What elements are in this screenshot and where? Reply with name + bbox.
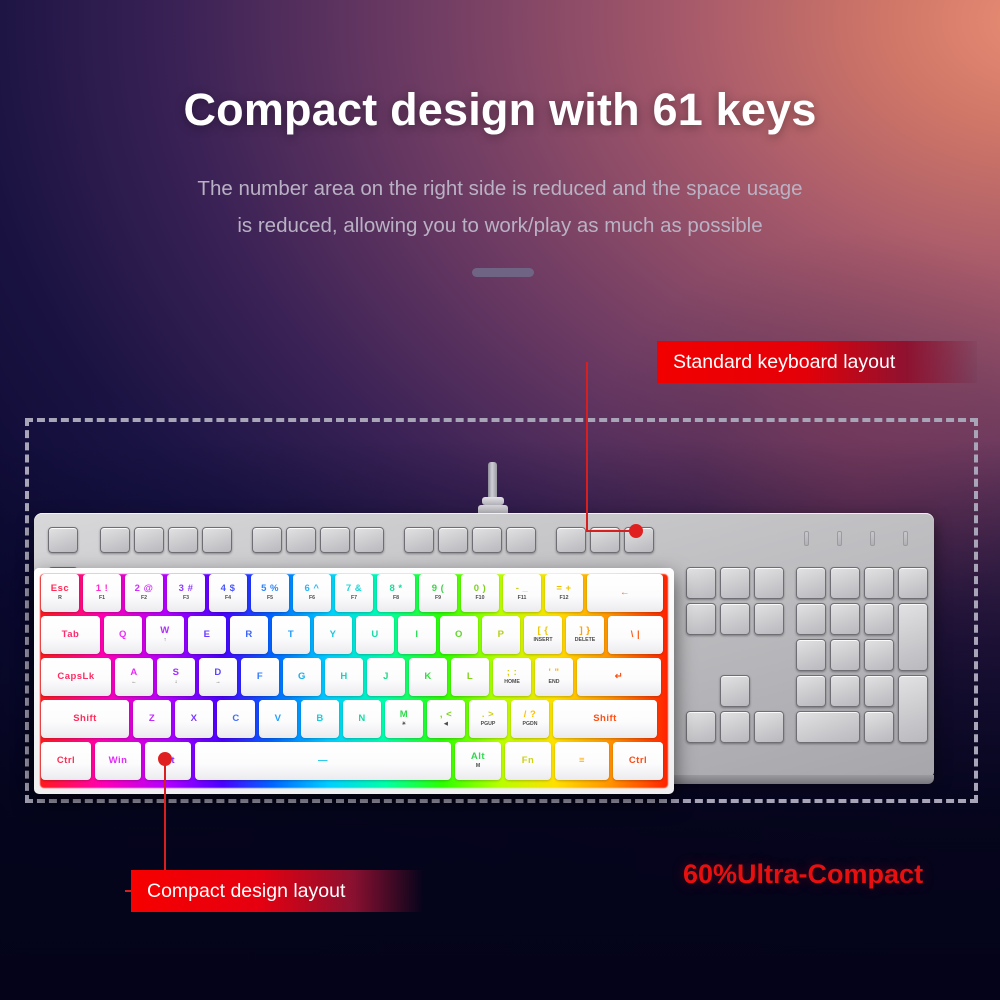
numpad-zero (796, 711, 860, 743)
full-keyboard-key (286, 527, 316, 553)
key-K-2-8[interactable]: K (409, 658, 447, 696)
key-legend: J (383, 672, 389, 682)
key--3-9[interactable]: . >PGUP (469, 700, 507, 738)
key-legend: H (340, 672, 347, 682)
key-sub-legend: M (476, 764, 480, 769)
key-legend: Alt (471, 752, 485, 762)
key-legend: 2 @ (135, 584, 154, 594)
full-keyboard-key (100, 527, 130, 553)
key-legend: E (204, 630, 211, 640)
key-legend: 0 ) (474, 584, 487, 594)
key-legend: ↵ (615, 672, 623, 682)
key-legend: 6 ^ (305, 584, 320, 594)
key-legend: D (214, 668, 221, 678)
key--1-13[interactable]: \ | (608, 616, 663, 654)
key-legend: ] } (580, 626, 591, 636)
numpad-key (796, 603, 826, 635)
key-Fn-4-5[interactable]: Fn (505, 742, 551, 780)
key-sub-legend: F3 (183, 596, 189, 601)
key-row-shift-row: ShiftZXCVBNM☀, <◀. >PGUP/ ?PGDNShift (41, 700, 657, 738)
key--3-10[interactable]: / ?PGDN (511, 700, 549, 738)
key-sub-legend: ◀ (444, 722, 448, 727)
status-led-2 (870, 531, 875, 546)
key-legend: 8 * (389, 584, 402, 594)
key-legend: Fn (522, 756, 535, 766)
numpad-key (830, 639, 860, 671)
key-legend: Win (109, 756, 128, 766)
arrow-left (686, 711, 716, 743)
key-legend: Q (119, 630, 127, 640)
key-Tab-1-0[interactable]: Tab (41, 616, 100, 654)
key-sub-legend: F12 (560, 596, 569, 601)
key-sub-legend: PGUP (481, 722, 496, 727)
key-legend: ' " (549, 668, 560, 678)
key-legend: Ctrl (57, 756, 75, 766)
full-keyboard-key (252, 527, 282, 553)
key-Win-4-1[interactable]: Win (95, 742, 141, 780)
numpad-key (864, 675, 894, 707)
numpad-key (864, 639, 894, 671)
key-legend: — (318, 756, 328, 766)
full-keyboard-key (202, 527, 232, 553)
key-legend: B (316, 714, 323, 724)
key-legend: P (498, 630, 505, 640)
key-sub-legend: INSERT (533, 638, 552, 643)
key-legend: 1 ! (96, 584, 109, 594)
numpad-key (864, 603, 894, 635)
key-legend: R (245, 630, 252, 640)
key-row-bottom-row: CtrlWinAlt—AltMFn≡Ctrl (41, 742, 663, 780)
key-legend: F (257, 672, 263, 682)
key-sub-legend: → (215, 680, 220, 685)
key-legend: 9 ( (432, 584, 445, 594)
key-legend: L (467, 672, 473, 682)
key-3-0-3[interactable]: 3 #F3 (167, 574, 205, 612)
key-sub-legend: ↓ (175, 680, 178, 685)
key-V-3-4[interactable]: V (259, 700, 297, 738)
status-led-3 (903, 531, 908, 546)
key-P-1-10[interactable]: P (482, 616, 520, 654)
key-legend: / ? (524, 710, 537, 720)
key-legend: = + (556, 584, 571, 594)
key-legend: - _ (516, 584, 529, 594)
nav-key (720, 603, 750, 635)
numpad-key (830, 603, 860, 635)
key-legend: A (130, 668, 137, 678)
product-banner: Compact design with 61 keys The number a… (0, 0, 1000, 1000)
key-A-2-1[interactable]: A← (115, 658, 153, 696)
full-keyboard-key (404, 527, 434, 553)
full-key-esc (48, 527, 78, 553)
key-Esc-0-0[interactable]: EscR (41, 574, 79, 612)
key-Ctrl-4-0[interactable]: Ctrl (41, 742, 91, 780)
key-legend: Z (149, 714, 155, 724)
page-title: Compact design with 61 keys (0, 84, 1000, 136)
key--4-3[interactable]: — (195, 742, 451, 780)
key-C-3-3[interactable]: C (217, 700, 255, 738)
key-I-1-8[interactable]: I (398, 616, 436, 654)
section-divider (472, 268, 534, 277)
numpad-key (796, 567, 826, 599)
key--1-11[interactable]: [ {INSERT (524, 616, 562, 654)
key-Q-1-1[interactable]: Q (104, 616, 142, 654)
nav-key (686, 567, 716, 599)
callout-compact-layout-label: Compact design layout (147, 880, 345, 903)
key-legend: ← (620, 588, 630, 598)
key-L-2-9[interactable]: L (451, 658, 489, 696)
key-U-1-7[interactable]: U (356, 616, 394, 654)
nav-key (754, 603, 784, 635)
full-keyboard-key (506, 527, 536, 553)
key-sub-legend: END (549, 680, 560, 685)
compact-keyboard[interactable]: EscR1 !F12 @F23 #F34 $F45 %F56 ^F67 &F78… (34, 568, 674, 794)
numpad-key (830, 567, 860, 599)
key-legend: U (371, 630, 378, 640)
key-E-1-3[interactable]: E (188, 616, 226, 654)
status-led-0 (804, 531, 809, 546)
key--2-11[interactable]: ' "END (535, 658, 573, 696)
key-Ctrl-4-7[interactable]: Ctrl (613, 742, 663, 780)
key-legend: Shift (593, 714, 617, 724)
key-Y-1-6[interactable]: Y (314, 616, 352, 654)
key-legend: T (288, 630, 294, 640)
callout-standard-layout-label: Standard keyboard layout (673, 351, 895, 374)
key-9-0-9[interactable]: 9 (F9 (419, 574, 457, 612)
key-legend: Esc (51, 584, 69, 594)
ultra-compact-tagline: 60%Ultra-Compact (683, 859, 983, 890)
key--2-12[interactable]: ↵ (577, 658, 661, 696)
key-F-2-4[interactable]: F (241, 658, 279, 696)
key-5-0-5[interactable]: 5 %F5 (251, 574, 289, 612)
key-legend: K (424, 672, 431, 682)
key--0-11[interactable]: - _F11 (503, 574, 541, 612)
key--0-13[interactable]: ← (587, 574, 663, 612)
key-legend: M (400, 710, 408, 720)
callout-dot-bottom (158, 752, 172, 766)
numpad-key (830, 675, 860, 707)
key-legend: S (173, 668, 180, 678)
key-sub-legend: DELETE (575, 638, 595, 643)
subtitle-line-1: The number area on the right side is red… (0, 170, 1000, 207)
key-6-0-6[interactable]: 6 ^F6 (293, 574, 331, 612)
leader-line-top-vertical (586, 362, 588, 530)
key-W-1-2[interactable]: W↑ (146, 616, 184, 654)
key-sub-legend: F5 (267, 596, 273, 601)
key-Z-3-1[interactable]: Z (133, 700, 171, 738)
key-legend: Shift (73, 714, 97, 724)
key-legend: Y (330, 630, 337, 640)
key-R-1-4[interactable]: R (230, 616, 268, 654)
key-D-2-3[interactable]: D→ (199, 658, 237, 696)
numpad-key (864, 567, 894, 599)
key-legend: ≡ (579, 756, 585, 766)
arrow-down (720, 711, 750, 743)
key--1-12[interactable]: ] }DELETE (566, 616, 604, 654)
status-led-1 (837, 531, 842, 546)
key-M-3-7[interactable]: M☀ (385, 700, 423, 738)
key-G-2-5[interactable]: G (283, 658, 321, 696)
full-keyboard-key (168, 527, 198, 553)
cable-collar (482, 497, 504, 505)
callout-dot-top (629, 524, 643, 538)
numpad-key (796, 639, 826, 671)
full-keyboard-key (472, 527, 502, 553)
key-H-2-6[interactable]: H (325, 658, 363, 696)
key-sub-legend: ☀ (402, 722, 407, 727)
numpad-dot (864, 711, 894, 743)
key--3-8[interactable]: , <◀ (427, 700, 465, 738)
key-legend: I (415, 630, 418, 640)
key-legend: 5 % (261, 584, 279, 594)
key-legend: 7 & (346, 584, 362, 594)
key-sub-legend: F6 (309, 596, 315, 601)
key-row-qwerty-row: TabQW↑ERTYUIOP[ {INSERT] }DELETE\ | (41, 616, 663, 654)
numpad-plus (898, 603, 928, 671)
key-sub-legend: ↑ (164, 638, 167, 643)
full-keyboard-key (438, 527, 468, 553)
key-legend: [ { (538, 626, 549, 636)
key-legend: W (160, 626, 169, 636)
key-legend: \ | (631, 630, 640, 640)
key-sub-legend: F9 (435, 596, 441, 601)
key--0-12[interactable]: = +F12 (545, 574, 583, 612)
key-sub-legend: F7 (351, 596, 357, 601)
key--2-10[interactable]: ; :HOME (493, 658, 531, 696)
key-N-3-6[interactable]: N (343, 700, 381, 738)
numpad-key (898, 567, 928, 599)
key-sub-legend: R (58, 596, 62, 601)
key-1-0-1[interactable]: 1 !F1 (83, 574, 121, 612)
key-legend: C (232, 714, 239, 724)
key-legend: N (358, 714, 365, 724)
key-legend: O (455, 630, 463, 640)
key--4-6[interactable]: ≡ (555, 742, 609, 780)
key-sub-legend: F4 (225, 596, 231, 601)
key-legend: Ctrl (629, 756, 647, 766)
key-sub-legend: F2 (141, 596, 147, 601)
key-0-0-10[interactable]: 0 )F10 (461, 574, 499, 612)
key-Shift-3-11[interactable]: Shift (553, 700, 657, 738)
key-B-3-5[interactable]: B (301, 700, 339, 738)
key-legend: , < (440, 710, 452, 720)
key-X-3-2[interactable]: X (175, 700, 213, 738)
arrow-right (754, 711, 784, 743)
key-legend: X (191, 714, 198, 724)
key-row-home-row: CapsLkA←S↓D→FGHJKL; :HOME' "END↵ (41, 658, 661, 696)
nav-key (754, 567, 784, 599)
numpad-enter (898, 675, 928, 743)
full-keyboard-key (354, 527, 384, 553)
callout-compact-layout[interactable]: Compact design layout (131, 870, 423, 912)
key-J-2-7[interactable]: J (367, 658, 405, 696)
key-legend: 4 $ (221, 584, 236, 594)
full-keyboard-key (134, 527, 164, 553)
arrow-up (720, 675, 750, 707)
key-legend: ; : (507, 668, 517, 678)
key-sub-legend: PGDN (523, 722, 538, 727)
key-legend: 3 # (179, 584, 194, 594)
key-row-number-row: EscR1 !F12 @F23 #F34 $F45 %F56 ^F67 &F78… (41, 574, 663, 612)
key-legend: V (275, 714, 282, 724)
key-legend: Tab (62, 630, 80, 640)
key-Shift-3-0[interactable]: Shift (41, 700, 129, 738)
key-sub-legend: ← (131, 680, 136, 685)
key-8-0-8[interactable]: 8 *F8 (377, 574, 415, 612)
key-4-0-4[interactable]: 4 $F4 (209, 574, 247, 612)
page-subtitle: The number area on the right side is red… (0, 170, 1000, 244)
full-keyboard-key (320, 527, 350, 553)
key-sub-legend: F10 (476, 596, 485, 601)
key-O-1-9[interactable]: O (440, 616, 478, 654)
key-sub-legend: F11 (518, 596, 527, 601)
subtitle-line-2: is reduced, allowing you to work/play as… (0, 207, 1000, 244)
key-7-0-7[interactable]: 7 &F7 (335, 574, 373, 612)
key-CapsLk-2-0[interactable]: CapsLk (41, 658, 111, 696)
key-legend: . > (482, 710, 494, 720)
key-sub-legend: F8 (393, 596, 399, 601)
key-sub-legend: HOME (504, 680, 520, 685)
key-legend: CapsLk (57, 672, 94, 682)
key-T-1-5[interactable]: T (272, 616, 310, 654)
numpad-key (796, 675, 826, 707)
full-keyboard-key (556, 527, 586, 553)
key-2-0-2[interactable]: 2 @F2 (125, 574, 163, 612)
key-S-2-2[interactable]: S↓ (157, 658, 195, 696)
nav-key (720, 567, 750, 599)
key-legend: G (298, 672, 306, 682)
callout-standard-layout[interactable]: Standard keyboard layout (657, 341, 977, 383)
key-Alt-4-4[interactable]: AltM (455, 742, 501, 780)
nav-key (686, 603, 716, 635)
key-sub-legend: F1 (99, 596, 105, 601)
